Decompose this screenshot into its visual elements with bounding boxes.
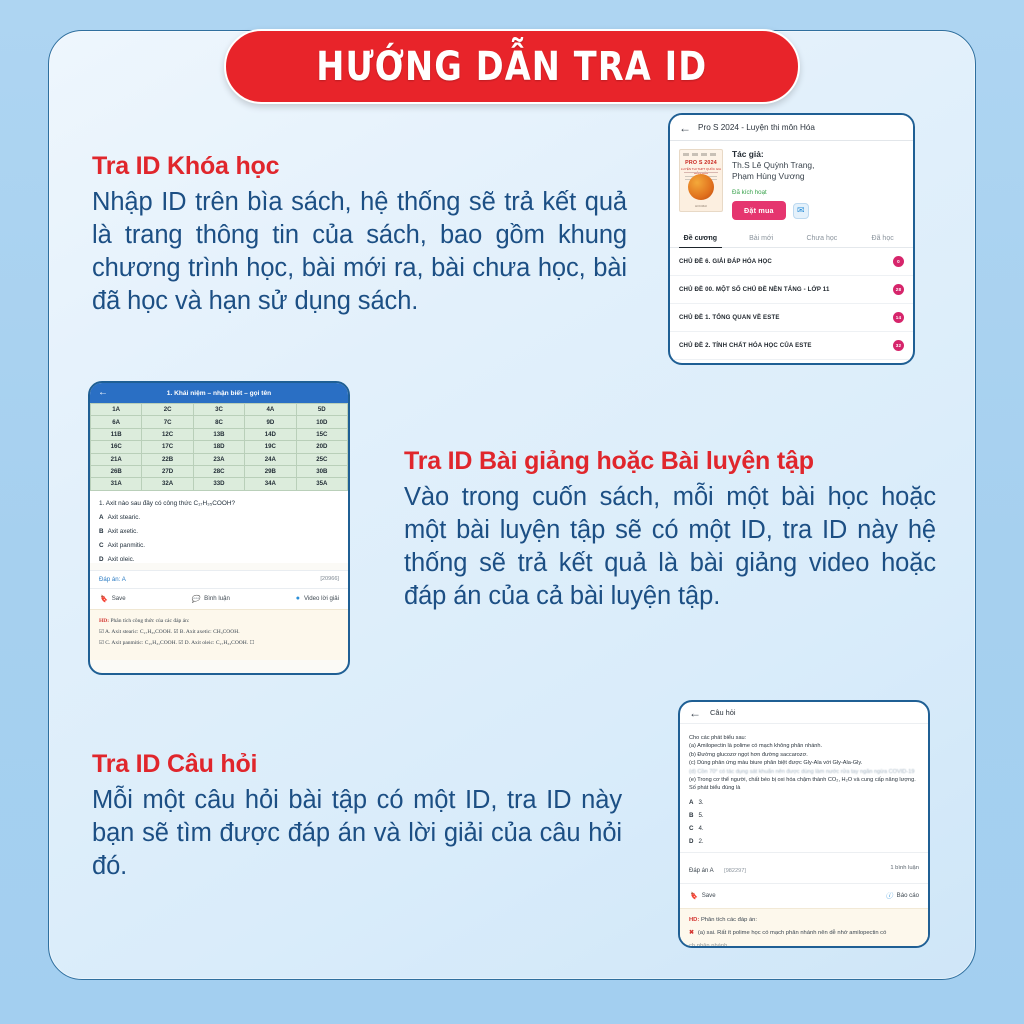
- answer-key-row: 26B27D28C29B30B: [91, 465, 348, 477]
- option-key: C: [689, 825, 693, 832]
- answer-key-cell: 35A: [296, 478, 347, 490]
- course-tabs: Đề cương Bài mới Chưa học Đã học: [670, 229, 913, 248]
- page-title-banner: HƯỚNG DẪN TRA ID: [224, 29, 800, 104]
- answer-key-cell: 21A: [91, 453, 142, 465]
- option-text: Axit oleic.: [108, 556, 135, 563]
- option-text: Axit stearic.: [108, 514, 141, 521]
- answer-key-row: 31A32A33D34A35A: [91, 478, 348, 490]
- section-question-id: Tra ID Câu hỏi Mỗi một câu hỏi bài tập c…: [92, 750, 622, 883]
- question-screenshot: ← Câu hỏi Cho các phát biểu sau: (a) Ami…: [678, 700, 930, 948]
- chapter-row[interactable]: CHỦ ĐỀ 1. TỔNG QUAN VỀ ESTE 14: [670, 304, 913, 332]
- statement: (c) Dùng phản ứng màu biure phân biệt đư…: [689, 759, 919, 767]
- option-row[interactable]: CAxit panmitic.: [99, 542, 339, 549]
- activation-status: Đã kích hoạt: [732, 189, 904, 196]
- option-key: D: [99, 556, 104, 563]
- chapter-title: CHỦ ĐỀ 2. TÍNH CHẤT HÓA HỌC CỦA ESTE: [679, 342, 812, 349]
- answer-key-cell: 29B: [245, 465, 296, 477]
- question-card-title: Câu hỏi: [710, 708, 735, 717]
- answer-key-cell: 25C: [296, 453, 347, 465]
- answer-key-cell: 30B: [296, 465, 347, 477]
- answer-key-cell: 20D: [296, 441, 347, 453]
- answer-key-cell: 17C: [142, 441, 193, 453]
- question-card-header: ← Câu hỏi: [680, 702, 928, 724]
- course-card-header: ← Pro S 2024 - Luyện thi môn Hóa: [670, 115, 913, 141]
- answer-key-cell: 16C: [91, 441, 142, 453]
- bookmark-icon: 🔖: [689, 892, 698, 900]
- chapter-count-badge: 0: [893, 256, 904, 267]
- answer-key-cell: 7C: [142, 416, 193, 428]
- answer-key-cell: 24A: [245, 453, 296, 465]
- question-hint-box: HD: Phân tích các đáp án: ✖(a) sai. Rất …: [680, 908, 928, 948]
- chapter-row[interactable]: CHỦ ĐỀ 2. TÍNH CHẤT HÓA HỌC CỦA ESTE 32: [670, 332, 913, 360]
- answer-key-table: 1A2C3C4A5D6A7C8C9D10D11B12C13B14D15C16C1…: [90, 403, 348, 491]
- chapter-row[interactable]: CHỦ ĐỀ 00. MỘT SỐ CHỦ ĐỀ NỀN TẢNG - LỚP …: [670, 276, 913, 304]
- statement: (d) Cồn 70° có tác dụng sát khuẩn nên đư…: [689, 768, 919, 776]
- chapter-count-badge: 14: [893, 312, 904, 323]
- option-row[interactable]: BAxit axetic.: [99, 528, 339, 535]
- section-body-1: Nhập ID trên bìa sách, hệ thống sẽ trả k…: [92, 186, 627, 319]
- answer-key-cell: 12C: [142, 428, 193, 440]
- bookmark-icon: 🔖: [99, 595, 108, 603]
- option-row[interactable]: A3.: [689, 799, 919, 806]
- answer-key-cell: 5D: [296, 404, 347, 416]
- book-cover-title: PRO S 2024: [680, 160, 722, 166]
- answer-key-cell: 15C: [296, 428, 347, 440]
- option-row[interactable]: C4.: [689, 825, 919, 832]
- question-toolbar: 🔖 Save ⓘ Báo cáo: [680, 883, 928, 908]
- hint-label: HD:: [99, 618, 109, 624]
- answer-key-row: 11B12C13B14D15C: [91, 428, 348, 440]
- option-row[interactable]: DAxit oleic.: [99, 556, 339, 563]
- option-key: D: [689, 838, 693, 845]
- lesson-hint-box: HD: Phân tích công thức của các đáp án: …: [90, 609, 348, 660]
- question-id: [982297]: [724, 868, 746, 874]
- answer-key-cell: 10D: [296, 416, 347, 428]
- question-answer-bar: Đáp án A [982297] 1 bình luận: [680, 852, 928, 883]
- option-text: Axit axetic.: [108, 528, 138, 535]
- comment-button[interactable]: 💬 Bình luận: [191, 595, 229, 603]
- video-solution-button[interactable]: ● Video lời giải: [296, 595, 339, 602]
- section-heading-1: Tra ID Khóa học: [92, 152, 627, 181]
- comment-label: Bình luận: [204, 595, 230, 602]
- question-intro: Cho các phát biểu sau:: [689, 734, 919, 742]
- book-cover-image: PRO S 2024 LUYỆN THI THPT QUỐC GIA MÔN H…: [679, 149, 723, 212]
- video-icon: ●: [296, 595, 300, 602]
- option-key: C: [99, 542, 104, 549]
- answer-key-cell: 34A: [245, 478, 296, 490]
- option-row[interactable]: B5.: [689, 812, 919, 819]
- cross-icon: ✖: [689, 930, 694, 936]
- comment-count[interactable]: 1 bình luận: [890, 865, 919, 871]
- question-id: [20966]: [320, 576, 339, 582]
- answer-key-row: 6A7C8C9D10D: [91, 416, 348, 428]
- question-prompt: Số phát biểu đúng là: [689, 784, 919, 792]
- author-names: Th.S Lê Quỳnh Trang, Phạm Hùng Vương: [732, 160, 904, 182]
- save-button[interactable]: 🔖 Save: [689, 892, 716, 900]
- answer-key-cell: 23A: [193, 453, 244, 465]
- back-arrow-icon[interactable]: ←: [689, 707, 701, 719]
- back-arrow-icon[interactable]: ←: [679, 122, 691, 134]
- course-info-screenshot: ← Pro S 2024 - Luyện thi môn Hóa PRO S 2…: [668, 113, 915, 365]
- answer-key-cell: 26B: [91, 465, 142, 477]
- option-text: Axit panmitic.: [108, 542, 145, 549]
- answer-key-cell: 18D: [193, 441, 244, 453]
- chapter-row[interactable]: CHỦ ĐỀ 6. GIẢI ĐÁP HÓA HỌC 0: [670, 248, 913, 276]
- option-text: 4.: [698, 825, 703, 832]
- section-course-id: Tra ID Khóa học Nhập ID trên bìa sách, h…: [92, 152, 627, 319]
- report-button[interactable]: ⓘ Báo cáo: [886, 891, 919, 901]
- hint-title: Phân tích các đáp án:: [701, 917, 757, 923]
- answer-key-cell: 22B: [142, 453, 193, 465]
- answer-key-cell: 3C: [193, 404, 244, 416]
- book-cover-globe-icon: [688, 174, 714, 200]
- section-lesson-id: Tra ID Bài giảng hoặc Bài luyện tập Vào …: [404, 447, 936, 614]
- course-actions: Đặt mua ✉: [732, 201, 904, 220]
- chat-bubble-icon[interactable]: ✉: [793, 203, 809, 219]
- option-text: 2.: [698, 838, 703, 845]
- option-text: 5.: [698, 812, 703, 819]
- lesson-screenshot: ← 1. Khái niệm – nhận biết – gọi tên 1A2…: [88, 381, 350, 675]
- poster-root: HƯỚNG DẪN TRA ID Tra ID Khóa học Nhập ID…: [0, 0, 1024, 1024]
- hint-line-cut: ch phân nhánh.: [689, 943, 919, 948]
- report-label: Báo cáo: [897, 892, 919, 899]
- video-label: Video lời giải: [304, 595, 339, 602]
- author-label: Tác giả:: [732, 149, 904, 159]
- chapter-count-badge: 28: [893, 284, 904, 295]
- option-key: B: [99, 528, 104, 535]
- save-label: Save: [702, 892, 716, 899]
- answer-key-cell: 28C: [193, 465, 244, 477]
- answer-key-cell: 6A: [91, 416, 142, 428]
- chapter-title: CHỦ ĐỀ 00. MỘT SỐ CHỦ ĐỀ NỀN TẢNG - LỚP …: [679, 286, 830, 293]
- hint-line: ☑ A. Axit stearic: C₁₇H₃₅COOH. ☑ B. Axit…: [99, 629, 339, 635]
- answer-key-cell: 11B: [91, 428, 142, 440]
- save-label: Save: [112, 595, 126, 602]
- answer-group: Đáp án A [982297]: [689, 859, 746, 877]
- option-text: 3.: [698, 799, 703, 806]
- section-heading-2: Tra ID Bài giảng hoặc Bài luyện tập: [404, 447, 936, 476]
- answer-key-cell: 9D: [245, 416, 296, 428]
- course-card-title: Pro S 2024 - Luyện thi môn Hóa: [698, 123, 815, 132]
- option-row[interactable]: D2.: [689, 838, 919, 845]
- section-body-2: Vào trong cuốn sách, mỗi một bài học hoặ…: [404, 481, 936, 614]
- statement: (e) Trong cơ thể người, chất béo bị oxi …: [689, 776, 919, 784]
- hint-line-row: ✖(a) sai. Rất ít polime học có mạch phân…: [689, 930, 919, 936]
- answer-key-cell: 8C: [193, 416, 244, 428]
- book-cover-footer: HOCMAI: [680, 204, 722, 208]
- answer-key-cell: 4A: [245, 404, 296, 416]
- answer-key-row: 1A2C3C4A5D: [91, 404, 348, 416]
- answer-key-cell: 14D: [245, 428, 296, 440]
- answer-key-cell: 13B: [193, 428, 244, 440]
- answer-key-cell: 31A: [91, 478, 142, 490]
- section-body-3: Mỗi một câu hỏi bài tập có một ID, tra I…: [92, 784, 622, 883]
- option-key: B: [689, 812, 693, 819]
- page-title: HƯỚNG DẪN TRA ID: [316, 44, 707, 90]
- answer-key-row: 16C17C18D19C20D: [91, 441, 348, 453]
- statement: (a) Amilopectin là polime có mạch không …: [689, 742, 919, 750]
- comment-icon: 💬: [191, 595, 200, 603]
- course-meta: Tác giả: Th.S Lê Quỳnh Trang, Phạm Hùng …: [732, 149, 904, 220]
- chapter-list: CHỦ ĐỀ 6. GIẢI ĐÁP HÓA HỌC 0 CHỦ ĐỀ 00. …: [670, 248, 913, 360]
- answer-key-cell: 27D: [142, 465, 193, 477]
- option-key: A: [689, 799, 693, 806]
- answer-key-cell: 19C: [245, 441, 296, 453]
- lesson-toolbar: 🔖 Save 💬 Bình luận ● Video lời giải: [90, 588, 348, 609]
- answer-key-row: 21A22B23A24A25C: [91, 453, 348, 465]
- option-row[interactable]: AAxit stearic.: [99, 514, 339, 521]
- report-icon: ⓘ: [886, 891, 893, 901]
- book-cover-topbar: [683, 153, 719, 156]
- buy-button[interactable]: Đặt mua: [732, 201, 786, 220]
- answer-text: Đáp án A: [689, 868, 714, 874]
- lesson-answer-bar: Đáp án: A [20966]: [90, 570, 348, 588]
- section-heading-3: Tra ID Câu hỏi: [92, 750, 622, 779]
- answer-key-cell: 32A: [142, 478, 193, 490]
- chapter-title: CHỦ ĐỀ 1. TỔNG QUAN VỀ ESTE: [679, 314, 780, 321]
- tab-bai-moi[interactable]: Bài mới: [731, 229, 792, 247]
- answer-key-cell: 1A: [91, 404, 142, 416]
- tab-de-cuong[interactable]: Đề cương: [670, 229, 731, 247]
- question-card-body: Cho các phát biểu sau: (a) Amilopectin l…: [680, 724, 928, 845]
- chapter-count-badge: 32: [893, 340, 904, 351]
- option-key: A: [99, 514, 104, 521]
- lesson-card-header: ← 1. Khái niệm – nhận biết – gọi tên: [90, 383, 348, 403]
- lesson-card-title: 1. Khái niệm – nhận biết – gọi tên: [90, 390, 348, 397]
- chapter-title: CHỦ ĐỀ 6. GIẢI ĐÁP HÓA HỌC: [679, 258, 772, 265]
- answer-text: Đáp án: A: [99, 576, 126, 583]
- hint-title: Phân tích công thức của các đáp án:: [110, 618, 189, 624]
- lesson-question-block: 1. Axit nào sau đây có công thức C₁₇H₃₅C…: [90, 491, 348, 563]
- statement: (b) Đường glucozơ ngọt hơn đường saccaro…: [689, 751, 919, 759]
- course-card-body: PRO S 2024 LUYỆN THI THPT QUỐC GIA MÔN H…: [670, 141, 913, 225]
- answer-key-cell: 33D: [193, 478, 244, 490]
- hint-title-row: HD: Phân tích các đáp án:: [689, 917, 919, 923]
- save-button[interactable]: 🔖 Save: [99, 595, 126, 603]
- tab-chua-hoc[interactable]: Chưa học: [792, 229, 853, 247]
- hint-line: (a) sai. Rất ít polime học có mạch phân …: [698, 930, 886, 936]
- hint-line: ☑ C. Axit panmitic: C₁₅H₃₁COOH. ☑ D. Axi…: [99, 640, 339, 646]
- question-text: 1. Axit nào sau đây có công thức C₁₇H₃₅C…: [99, 500, 339, 507]
- hint-label: HD:: [689, 917, 699, 923]
- hint-title-row: HD: Phân tích công thức của các đáp án:: [99, 618, 339, 624]
- answer-key-cell: 2C: [142, 404, 193, 416]
- tab-da-hoc[interactable]: Đã học: [852, 229, 913, 247]
